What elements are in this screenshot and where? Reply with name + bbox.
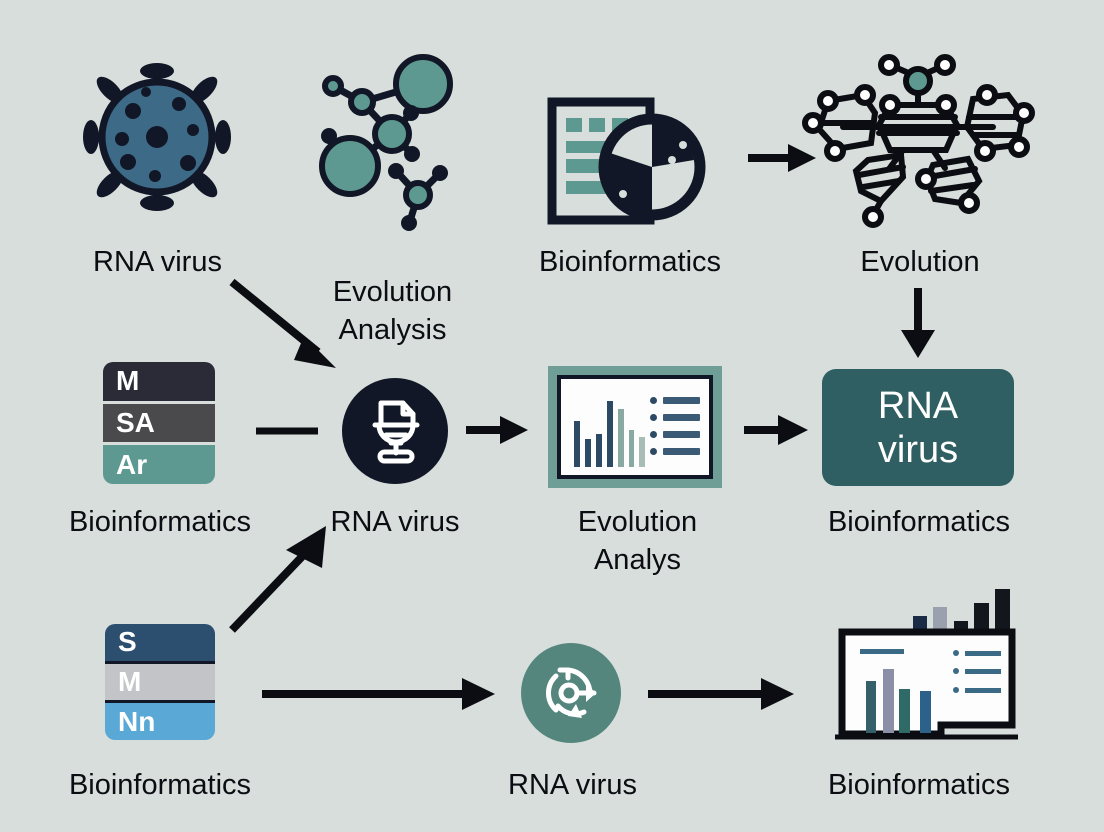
stack-segment: S — [105, 624, 215, 661]
legend-row — [650, 448, 700, 455]
chart-legend — [650, 392, 700, 459]
label-evolution-analysis-chart: Evolution Analys — [530, 503, 745, 579]
legend-bar — [663, 431, 700, 438]
chart-bar — [585, 439, 591, 467]
chart-bar — [629, 430, 635, 467]
stack-segment: M — [105, 661, 215, 704]
node-rna-virus-box[interactable]: RNA virus — [822, 369, 1014, 486]
node-evolution-analysis-network[interactable] — [310, 58, 475, 233]
node-rna-virus-icon[interactable] — [75, 55, 240, 220]
connector-chart-to-rna-virus-box — [744, 408, 810, 452]
label-bioinformatics-dashboard: Bioinformatics — [795, 766, 1043, 804]
document-pie-chart-icon — [548, 98, 713, 228]
cycle-arrow-icon — [538, 660, 604, 726]
connector-lab-to-chart — [466, 408, 530, 452]
legend-dot — [650, 431, 657, 438]
virus-icon — [75, 55, 240, 220]
lab-document-icon — [359, 395, 431, 467]
node-rna-virus-lab[interactable] — [342, 378, 448, 484]
connector-evolution-to-rna-virus-box — [895, 288, 941, 360]
legend-row — [650, 431, 700, 438]
node-evolution-dna-tree[interactable] — [793, 55, 1043, 235]
stack-segment: Nn — [105, 703, 215, 740]
bar-chart-panel-icon — [557, 375, 713, 479]
dashboard-chart-icon — [833, 585, 1033, 750]
connector-bioinformatics-report-to-evolution — [748, 138, 818, 178]
legend-dot — [650, 448, 657, 455]
connector-bottom-stack-to-cycle — [262, 672, 497, 716]
chart-bar — [574, 421, 580, 467]
stack-segment: SA — [103, 401, 215, 446]
node-bioinformatics-dashboard[interactable] — [833, 585, 1033, 750]
molecule-network-icon — [310, 58, 475, 233]
legend-row — [650, 397, 700, 404]
label-bioinformatics-report: Bioinformatics — [495, 243, 765, 281]
connector-bioinformatics-stack-to-lab — [256, 424, 318, 438]
legend-bar — [663, 397, 700, 404]
stack-segment: Ar — [103, 445, 215, 484]
legend-row — [650, 414, 700, 421]
chart-bar — [607, 401, 613, 467]
chart-bars — [574, 392, 645, 467]
chart-bar — [639, 437, 645, 467]
node-bioinformatics-report[interactable] — [548, 98, 713, 228]
connector-bottom-stack-to-lab — [226, 520, 336, 635]
diagram-canvas: RNA virus — [0, 0, 1104, 832]
phylogenetic-dna-icon — [793, 55, 1043, 235]
label-evolution-dna-tree: Evolution — [805, 243, 1035, 281]
rna-virus-box-text: RNA virus — [878, 384, 958, 472]
stack-segment: M — [103, 362, 215, 401]
legend-dot — [650, 397, 657, 404]
legend-bar — [663, 448, 700, 455]
label-rna-virus-icon: RNA virus — [30, 243, 285, 281]
node-rna-virus-cycle[interactable] — [521, 643, 621, 743]
node-evolution-analysis-chart[interactable] — [548, 366, 722, 488]
chart-bar — [618, 409, 624, 467]
node-bioinformatics-stack-top[interactable]: M SA Ar — [103, 362, 215, 484]
label-bioinformatics-stack-bottom: Bioinformatics — [20, 766, 300, 804]
label-rna-virus-cycle: RNA virus — [465, 766, 680, 804]
label-rna-virus-box: Bioinformatics — [795, 503, 1043, 541]
legend-dot — [650, 414, 657, 421]
connector-rna-virus-to-lab — [228, 278, 348, 373]
connector-cycle-to-dashboard — [648, 672, 796, 716]
chart-bar — [596, 434, 602, 467]
node-bioinformatics-stack-bottom[interactable]: S M Nn — [105, 624, 215, 740]
legend-bar — [663, 414, 700, 421]
